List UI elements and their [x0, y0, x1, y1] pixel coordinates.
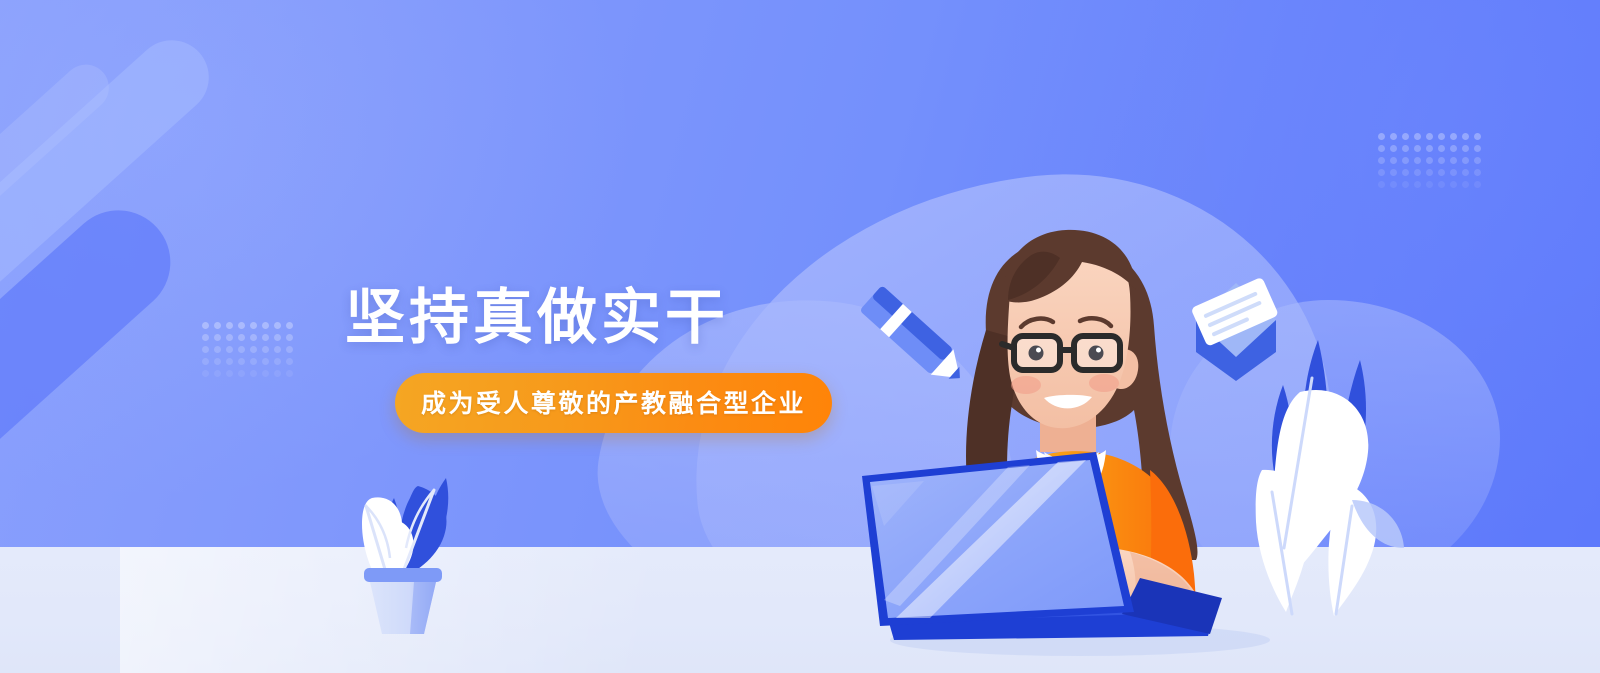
- hero-copy: 坚持真做实干 成为受人尊敬的产教融合型企业: [345, 286, 832, 433]
- hero-banner: 坚持真做实干 成为受人尊敬的产教融合型企业: [0, 0, 1600, 673]
- subtitle-badge-label: 成为受人尊敬的产教融合型企业: [421, 390, 806, 418]
- laptop: [862, 452, 1270, 656]
- envelope-icon: [1191, 277, 1279, 381]
- subtitle-badge: 成为受人尊敬的产教融合型企业: [395, 373, 832, 433]
- potted-plant: [362, 478, 448, 634]
- page-title: 坚持真做实干: [345, 286, 832, 351]
- pencil-icon: [859, 285, 971, 391]
- leaf-cluster: [1256, 340, 1404, 616]
